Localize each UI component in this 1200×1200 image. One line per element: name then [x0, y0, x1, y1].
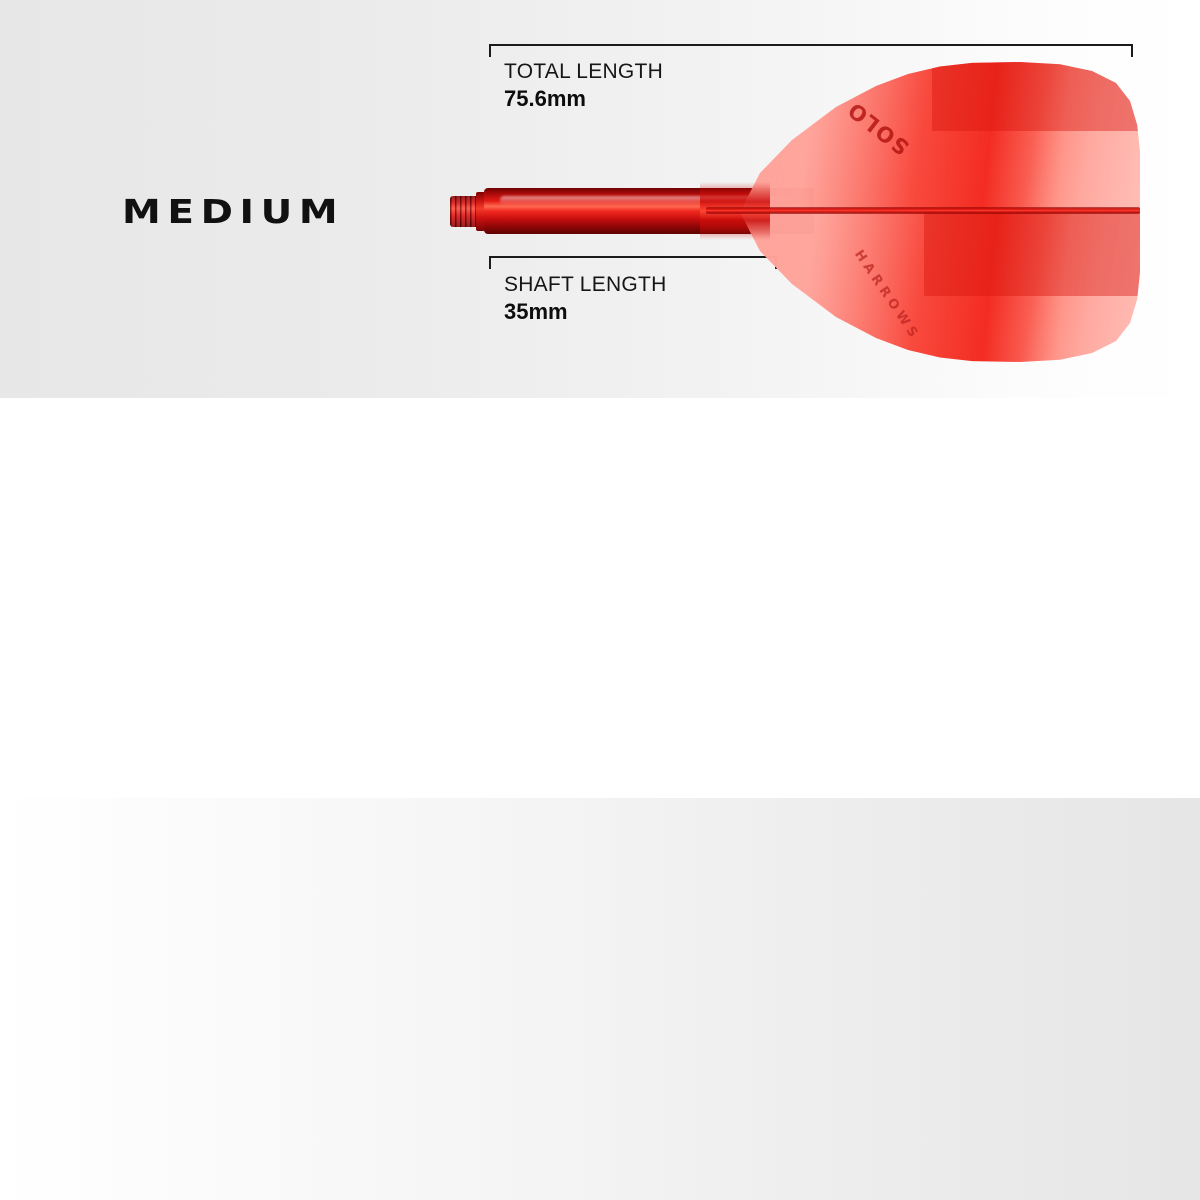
shaft-thread — [450, 196, 478, 227]
panel-midi: MIDI TOTAL LENGTH 68.6mm SHAFT LENGTH 27… — [0, 398, 1200, 798]
bracket-bar — [489, 256, 777, 258]
flight-spine — [706, 207, 1140, 214]
panel-medium: MEDIUM TOTAL LENGTH 75.6mm SHAFT LENGTH … — [0, 0, 1200, 398]
flight-lower-band — [924, 212, 1140, 296]
panel-short: SHORT TOTAL LENGTH 61.6mm SHAFT LENGTH 2… — [0, 798, 1200, 1200]
size-label-medium: MEDIUM — [122, 192, 344, 231]
total-length-text-medium: TOTAL LENGTH 75.6mm — [504, 58, 663, 113]
total-length-caption: TOTAL LENGTH — [504, 58, 663, 85]
dart-size-comparison-sheet: MEDIUM TOTAL LENGTH 75.6mm SHAFT LENGTH … — [0, 0, 1200, 1200]
shaft-length-value: 35mm — [504, 298, 667, 326]
bracket-tick-right — [1131, 44, 1133, 57]
total-length-value: 75.6mm — [504, 85, 663, 113]
flight-lower-lobe — [740, 212, 1140, 362]
shaft-length-caption: SHAFT LENGTH — [504, 271, 667, 298]
flight-upper-band — [932, 62, 1140, 131]
flight-upper-shading — [740, 62, 1140, 212]
bracket-tick-left — [489, 256, 491, 269]
total-length-bracket-medium — [489, 44, 1133, 57]
bracket-bar — [489, 44, 1133, 46]
bracket-tick-left — [489, 44, 491, 57]
shaft-length-text-medium: SHAFT LENGTH 35mm — [504, 271, 667, 326]
shaft-length-bracket-medium — [489, 256, 777, 269]
flight-lower-shading — [740, 212, 1140, 362]
flight-upper-lobe — [740, 62, 1140, 212]
